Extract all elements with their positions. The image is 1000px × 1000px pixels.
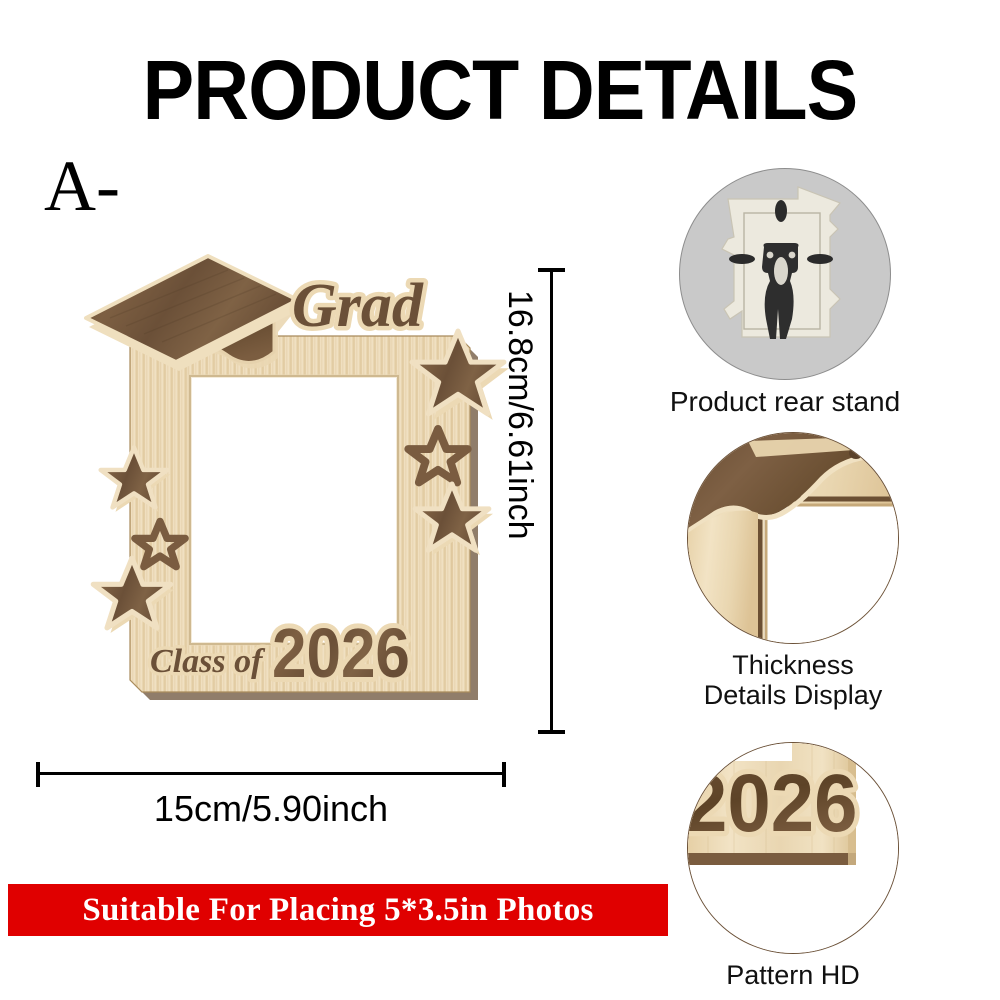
dim-cap-bottom xyxy=(538,730,565,734)
page-title: PRODUCT DETAILS xyxy=(40,48,960,132)
thickness-image xyxy=(687,432,899,644)
width-dimension-label: 15cm/5.90inch xyxy=(36,788,506,830)
pattern-year: 2026 xyxy=(688,757,858,848)
grad-text-engraving: Grad Grad xyxy=(292,272,424,340)
thickness-label-line2: Details Display xyxy=(704,680,883,710)
height-dimension-line xyxy=(538,268,564,734)
rear-stand-label: Product rear stand xyxy=(660,386,910,417)
pattern-hd-label: Pattern HD xyxy=(668,960,918,990)
product-frame-illustration: Grad Grad xyxy=(60,248,520,738)
grad-text: Grad xyxy=(292,272,424,340)
compatibility-banner-text: Suitable For Placing 5*3.5in Photos xyxy=(82,892,593,929)
frame-svg: Grad Grad xyxy=(60,248,520,738)
height-dimension-label: 16.8cm/6.61inch xyxy=(500,268,540,734)
width-dimension-line xyxy=(36,762,506,786)
graduation-cap-icon xyxy=(86,256,301,371)
product-details-page: PRODUCT DETAILS A- xyxy=(0,0,1000,1000)
thumbnail-thickness: Thickness Details Display xyxy=(668,432,918,710)
class-of-text: Class of xyxy=(150,643,266,680)
thumbnail-pattern-hd: 2026 2026 Pattern HD xyxy=(668,742,918,990)
pattern-hd-image: 2026 2026 xyxy=(687,742,899,954)
thumbnail-rear-stand: Product rear stand xyxy=(660,168,910,417)
compatibility-banner: Suitable For Placing 5*3.5in Photos xyxy=(8,884,668,936)
year-text: 2026 xyxy=(272,614,410,692)
photo-opening xyxy=(190,376,398,644)
dim-line-horizontal xyxy=(36,772,506,775)
dim-cap-right xyxy=(502,762,506,787)
dim-line-vertical xyxy=(550,268,553,734)
variant-label: A- xyxy=(44,150,120,222)
thickness-label-line1: Thickness xyxy=(732,650,854,680)
thickness-label: Thickness Details Display xyxy=(668,650,918,710)
rear-stand-image xyxy=(679,168,891,380)
